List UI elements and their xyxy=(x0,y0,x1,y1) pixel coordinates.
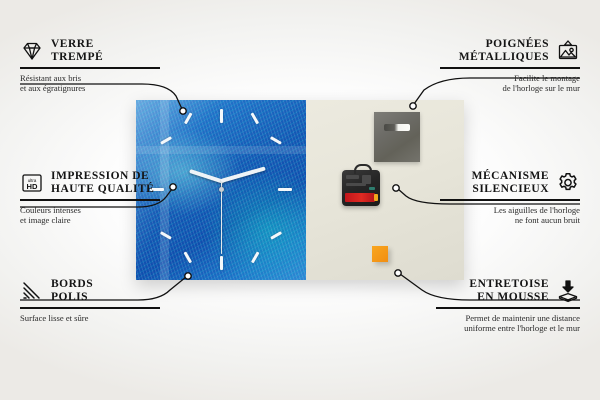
callout-sub-line1: Permet de maintenir une distance xyxy=(436,313,580,324)
movement-detail-c xyxy=(346,183,366,186)
battery-positive-tip xyxy=(374,194,378,201)
quartz-movement xyxy=(342,170,380,206)
movement-detail-a xyxy=(346,175,359,179)
callout-header: POIGNÉES MÉTALLIQUES xyxy=(440,38,580,64)
tick-12 xyxy=(220,109,223,123)
hands-hub xyxy=(219,187,224,192)
callout-rule xyxy=(20,199,160,201)
callout-title: BORDS POLIS xyxy=(51,278,93,304)
callout-bords-polis: BORDS POLIS Surface lisse et sûre xyxy=(20,278,160,323)
foam-spacer-icon xyxy=(556,279,580,303)
callout-sub-line1: Couleurs intenses xyxy=(20,205,160,216)
callout-header: VERRE TREMPÉ xyxy=(20,38,160,64)
product-image xyxy=(136,100,464,280)
callout-sub-line2: et image claire xyxy=(20,215,160,226)
hour-hand xyxy=(189,169,224,184)
callout-poignees-metalliques: POIGNÉES MÉTALLIQUES Facilite le montage… xyxy=(440,38,580,94)
callout-rule xyxy=(20,67,160,69)
tick-6 xyxy=(220,256,223,270)
ultra-hd-icon: ultra HD xyxy=(20,171,44,195)
movement-hanging-loop xyxy=(354,164,372,174)
tick-1 xyxy=(251,112,259,124)
infographic-canvas: VERRE TREMPÉ Résistant aux bris et aux é… xyxy=(0,0,600,400)
callout-title: MÉCANISME SILENCIEUX xyxy=(472,170,549,196)
callout-rule xyxy=(440,67,580,69)
tick-4 xyxy=(270,231,282,239)
callout-verre-trempe: VERRE TREMPÉ Résistant aux bris et aux é… xyxy=(20,38,160,94)
diamond-icon xyxy=(20,39,44,63)
minute-hand xyxy=(221,166,266,182)
callout-title: IMPRESSION DE HAUTE QUALITÉ xyxy=(51,170,154,196)
callout-impression-haute-qualite: ultra HD IMPRESSION DE HAUTE QUALITÉ Cou… xyxy=(20,170,160,226)
callout-rule xyxy=(440,199,580,201)
clock-face-panel xyxy=(136,100,308,280)
hanger-keyhole-slot xyxy=(384,124,410,131)
tick-2 xyxy=(270,136,282,144)
tick-8 xyxy=(160,231,172,239)
callout-header: MÉCANISME SILENCIEUX xyxy=(440,170,580,196)
polished-edges-icon xyxy=(20,279,44,303)
callout-sub-line1: Facilite le montage xyxy=(440,73,580,84)
callout-header: ENTRETOISE EN MOUSSE xyxy=(436,278,580,304)
metal-hanger-plate xyxy=(374,112,420,162)
callout-header: BORDS POLIS xyxy=(20,278,160,304)
tick-11 xyxy=(184,112,192,124)
callout-sub-line2: ne font aucun bruit xyxy=(440,215,580,226)
callout-mecanisme-silencieux: MÉCANISME SILENCIEUX Les aiguilles de l'… xyxy=(440,170,580,226)
movement-detail-d xyxy=(369,187,375,190)
callout-sub-line2: de l'horloge sur le mur xyxy=(440,83,580,94)
callout-sub-line1: Les aiguilles de l'horloge xyxy=(440,205,580,216)
picture-frame-hanger-icon xyxy=(556,39,580,63)
callout-title: ENTRETOISE EN MOUSSE xyxy=(469,278,549,304)
foam-spacer xyxy=(372,246,388,262)
gear-icon xyxy=(556,171,580,195)
tick-7 xyxy=(184,251,192,263)
callout-sub-line1: Surface lisse et sûre xyxy=(20,313,160,324)
svg-text:HD: HD xyxy=(27,182,38,191)
callout-header: ultra HD IMPRESSION DE HAUTE QUALITÉ xyxy=(20,170,160,196)
callout-title: POIGNÉES MÉTALLIQUES xyxy=(459,38,549,64)
callout-entretoise-en-mousse: ENTRETOISE EN MOUSSE Permet de maintenir… xyxy=(436,278,580,334)
callout-rule xyxy=(436,307,580,309)
callout-title: VERRE TREMPÉ xyxy=(51,38,103,64)
tick-5 xyxy=(251,251,259,263)
callout-sub-line2: uniforme entre l'horloge et le mur xyxy=(436,323,580,334)
tick-3 xyxy=(278,188,292,191)
callout-rule xyxy=(20,307,160,309)
tick-10 xyxy=(160,136,172,144)
callout-sub-line2: et aux égratignures xyxy=(20,83,160,94)
battery xyxy=(345,193,375,202)
callout-sub-line1: Résistant aux bris xyxy=(20,73,160,84)
second-hand xyxy=(221,182,222,254)
